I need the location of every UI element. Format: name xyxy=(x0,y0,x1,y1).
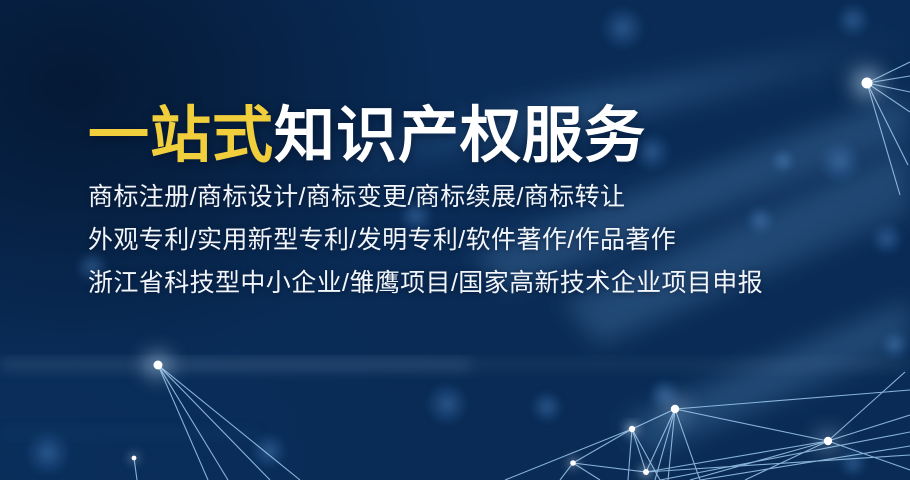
service-line-trademark: 商标注册/商标设计/商标变更/商标续展/商标转让 xyxy=(88,185,848,210)
service-line-patent: 外观专利/实用新型专利/发明专利/软件著作/作品著作 xyxy=(88,228,848,253)
page-title-rest: 知识产权服务 xyxy=(274,101,646,169)
page-title-highlight: 一站式 xyxy=(88,101,274,169)
promo-banner: 一站式知识产权服务 商标注册/商标设计/商标变更/商标续展/商标转让 外观专利/… xyxy=(0,0,910,480)
page-title: 一站式知识产权服务 xyxy=(88,104,848,167)
service-list: 商标注册/商标设计/商标变更/商标续展/商标转让 外观专利/实用新型专利/发明专… xyxy=(88,185,848,296)
service-line-enterprise-programs: 浙江省科技型中小企业/雏鹰项目/国家高新技术企业项目申报 xyxy=(88,271,848,296)
banner-content: 一站式知识产权服务 商标注册/商标设计/商标变更/商标续展/商标转让 外观专利/… xyxy=(88,104,848,296)
